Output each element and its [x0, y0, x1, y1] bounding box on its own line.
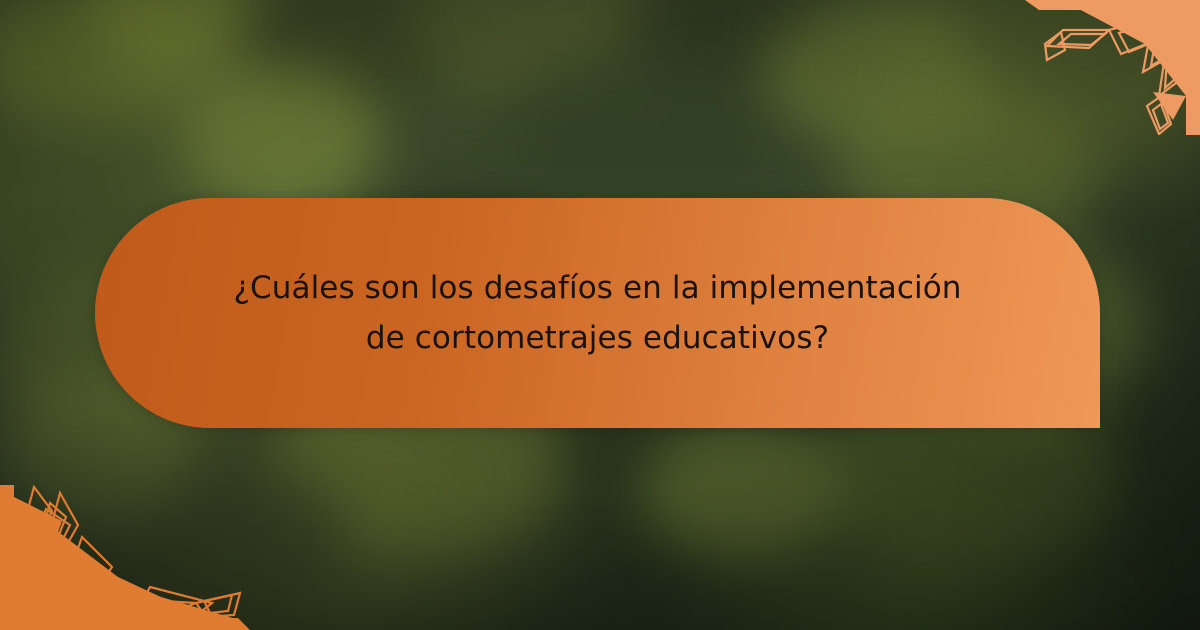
- question-card: ¿Cuáles son los desafíos en la implement…: [95, 198, 1100, 428]
- question-text: ¿Cuáles son los desafíos en la implement…: [178, 263, 1018, 363]
- poster-canvas: ¿Cuáles son los desafíos en la implement…: [0, 0, 1200, 630]
